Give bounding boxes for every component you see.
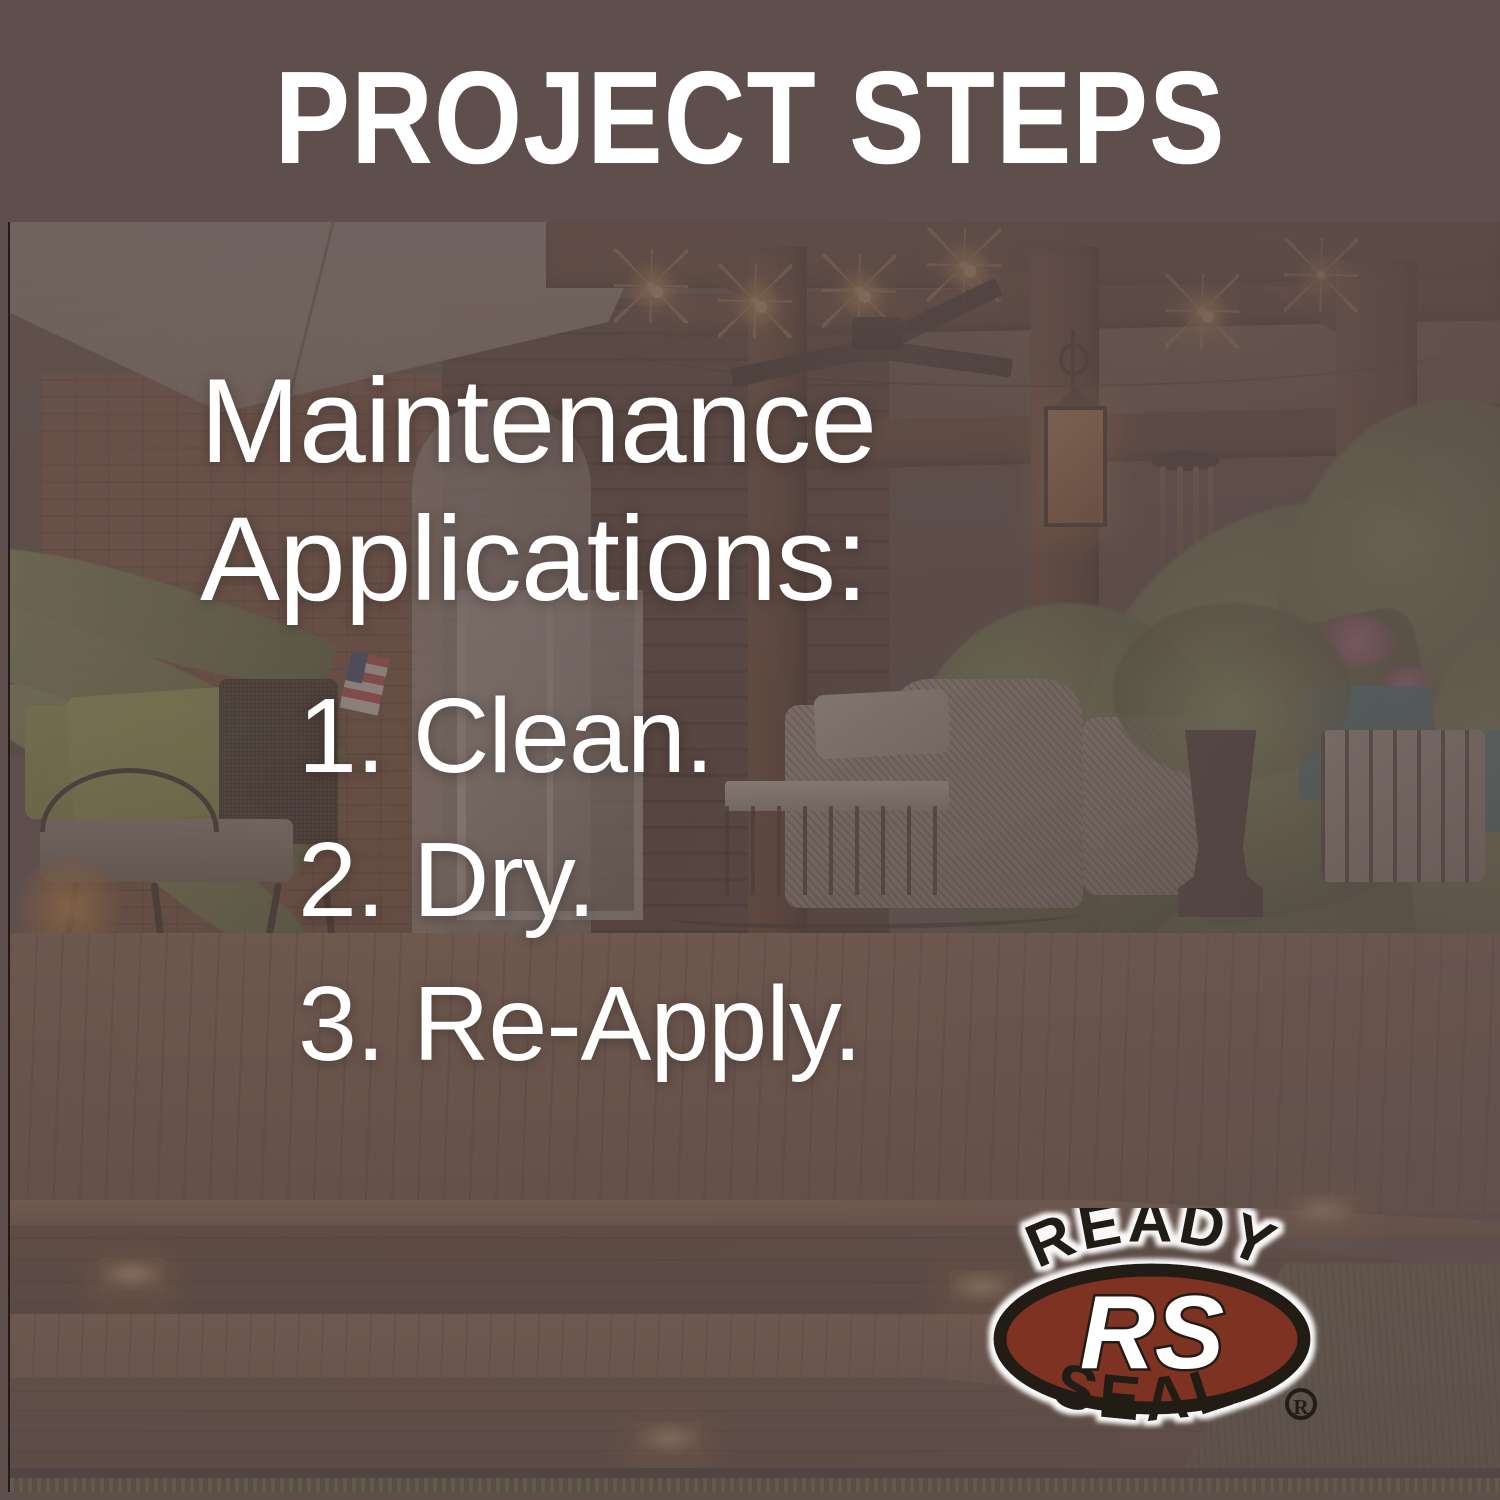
poster-canvas: PROJECT STEPS Maintenance Applications: … <box>0 0 1500 1500</box>
bottom-grass-strip <box>10 1478 1500 1492</box>
string-light-glow <box>1284 238 1358 312</box>
registered-trademark-icon: R <box>1287 1390 1315 1419</box>
step-item: 3. Re-Apply. <box>298 952 1300 1096</box>
ready-seal-logo: READY SEAL RS R <box>952 1208 1352 1470</box>
headline: Maintenance Applications: <box>200 352 1300 628</box>
headline-line-2: Applications: <box>200 490 1300 628</box>
logo-monogram: RS <box>1080 1275 1224 1391</box>
copy-block: Maintenance Applications: 1. Clean. 2. D… <box>200 352 1300 1096</box>
steps-list: 1. Clean. 2. Dry. 3. Re-Apply. <box>298 664 1300 1096</box>
patio-chair-right <box>1321 730 1485 882</box>
string-light-bulb <box>755 301 767 313</box>
page-title: PROJECT STEPS <box>105 52 1395 184</box>
string-light-glow <box>614 249 688 323</box>
step-item: 2. Dry. <box>298 808 1300 952</box>
string-light-bulb <box>651 286 663 298</box>
step-light <box>636 1422 702 1455</box>
logo-artwork: READY SEAL RS <box>1000 1208 1304 1435</box>
step-light <box>99 1258 165 1291</box>
string-light-bulb <box>859 291 871 303</box>
svg-text:R: R <box>1293 1395 1309 1419</box>
string-light-bulb <box>1202 311 1214 323</box>
headline-line-1: Maintenance <box>200 352 1300 490</box>
string-light-glow <box>718 264 792 338</box>
ceiling-fan-hub <box>852 317 903 350</box>
step-item: 1. Clean. <box>298 664 1300 808</box>
string-light-bulb <box>964 265 976 277</box>
header-band: PROJECT STEPS <box>0 0 1500 222</box>
string-light-glow <box>1165 274 1239 348</box>
